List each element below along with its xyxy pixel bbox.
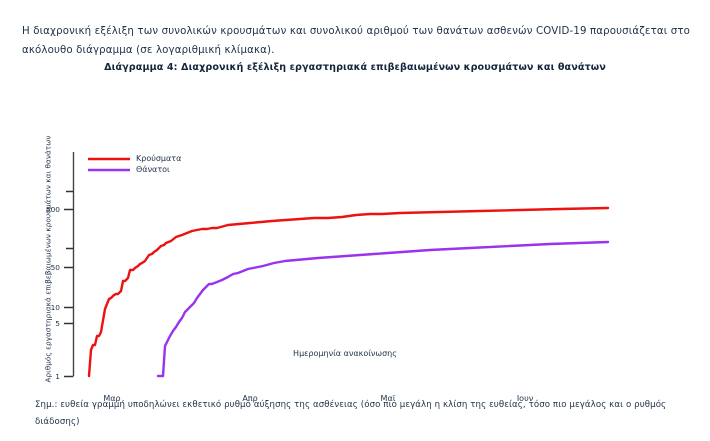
y-tick-label-5: 5 [34, 319, 60, 328]
plot-area: Αριθμός εργαστηριακά επιβεβαιωμένων κρου… [0, 58, 710, 378]
y-tick-label-500: 500 [34, 205, 60, 214]
y-tick-label-50: 50 [34, 263, 60, 272]
chart-svg [0, 58, 710, 378]
figure-container: Διάγραμμα 4: Διαχρονική εξέλιξη εργαστηρ… [0, 58, 710, 378]
x-axis-label: Ημερομηνία ανακοίνωσης [60, 349, 630, 358]
legend-label-cases: Κρούσματα [136, 154, 181, 163]
figure-note: Σημ.: ευθεία γραμμή υποδηλώνει εκθετικό … [35, 397, 680, 431]
legend-label-deaths: Θάνατοι [136, 165, 170, 174]
y-tick-label-1: 1 [34, 372, 60, 381]
y-tick-marks-minor [66, 192, 74, 249]
y-tick-label-10: 10 [34, 303, 60, 312]
intro-paragraph: Η διαχρονική εξέλιξη των συνολικών κρουσ… [22, 22, 690, 60]
